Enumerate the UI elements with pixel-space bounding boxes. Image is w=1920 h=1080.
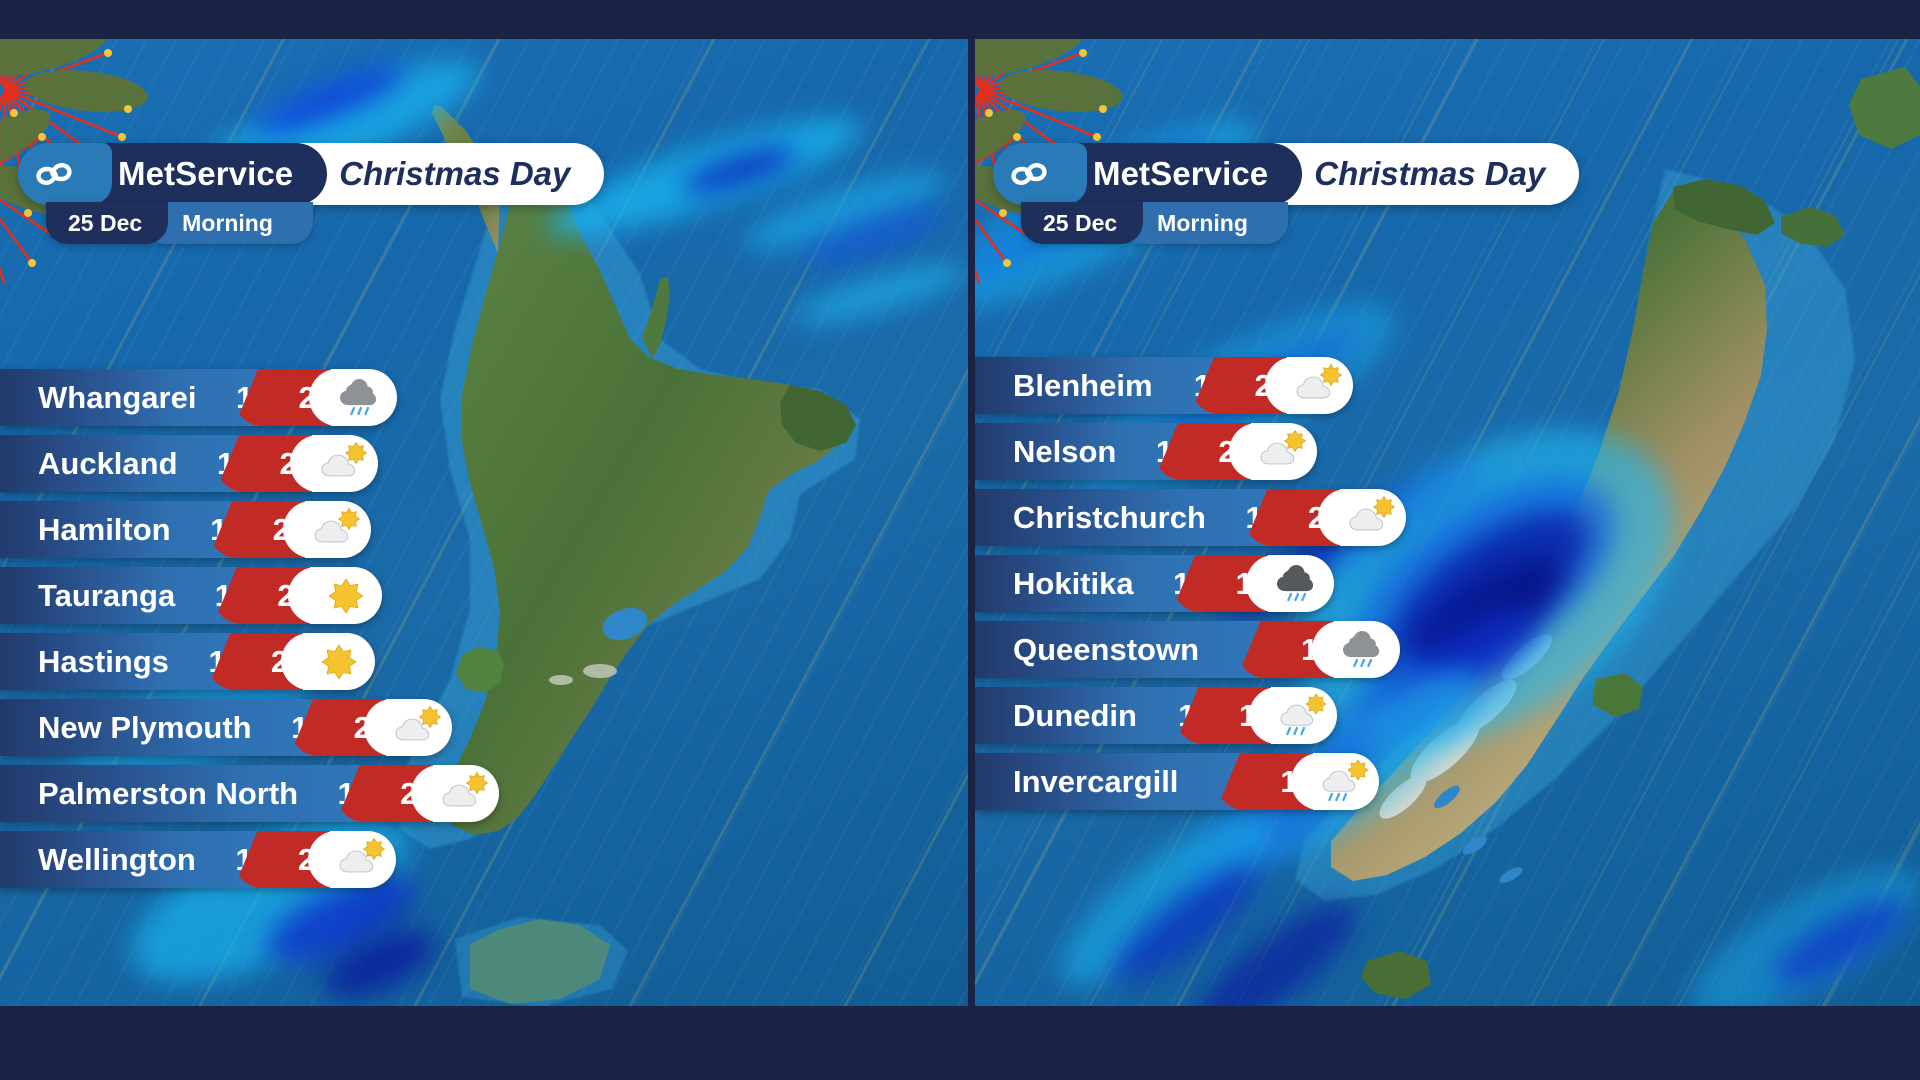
city-forecast-row[interactable]: New Plymouth1321: [0, 699, 499, 756]
forecast-graphic: MetService Christmas Day 25 Dec Morning …: [0, 0, 1920, 1080]
rain-cloud-dark-icon: [1275, 561, 1327, 607]
weather-icon-cap: [331, 369, 397, 426]
brand-name: MetService: [1059, 143, 1302, 205]
city-name: Blenheim: [1013, 368, 1153, 404]
sun-behind-cloud-icon: [1294, 363, 1346, 409]
letterbox-bottom: [0, 1006, 1920, 1080]
sun-behind-cloud-icon: [337, 837, 389, 883]
city-forecast-row[interactable]: Hastings1229: [0, 633, 499, 690]
date-time-pills: 25 Dec Morning: [1021, 202, 1579, 244]
city-forecast-row[interactable]: Hokitika1217: [975, 555, 1406, 612]
page-title: Christmas Day: [297, 143, 604, 205]
page-title: Christmas Day: [1272, 143, 1579, 205]
brand-name: MetService: [84, 143, 327, 205]
city-forecast-row[interactable]: Nelson1222: [975, 423, 1406, 480]
panel-header-south: MetService Christmas Day 25 Dec Morning: [993, 143, 1579, 244]
weather-icon-cap: [1287, 357, 1353, 414]
city-name: Invercargill: [1013, 764, 1178, 800]
weather-icon-cap: [1340, 489, 1406, 546]
city-forecast-row[interactable]: Tauranga1425: [0, 567, 499, 624]
sun-behind-cloud-icon: [1258, 429, 1310, 475]
city-name: Palmerston North: [38, 776, 298, 812]
weather-icon-cap: [386, 699, 452, 756]
weather-icon-cap: [312, 435, 378, 492]
city-forecast-row[interactable]: Queenstown716: [975, 621, 1406, 678]
panel-header-north: MetService Christmas Day 25 Dec Morning: [18, 143, 604, 244]
city-forecast-row[interactable]: Wellington1420: [0, 831, 499, 888]
city-forecast-row[interactable]: Blenheim1125: [975, 357, 1406, 414]
sun-behind-cloud-icon: [312, 507, 364, 553]
city-forecast-row[interactable]: Christchurch1025: [975, 489, 1406, 546]
city-name: New Plymouth: [38, 710, 252, 746]
city-forecast-row[interactable]: Whangarei1626: [0, 369, 499, 426]
city-name: Nelson: [1013, 434, 1116, 470]
city-row-bar: Palmerston North15: [0, 765, 390, 822]
city-name: Hastings: [38, 644, 169, 680]
sun-cloud-rain-icon: [1320, 759, 1372, 805]
city-name: Hamilton: [38, 512, 171, 548]
city-name: Dunedin: [1013, 698, 1137, 734]
city-forecast-row[interactable]: Invercargill817: [975, 753, 1406, 810]
weather-icon-cap: [1271, 687, 1337, 744]
city-forecast-list-north: Whangarei1626Auckland1624Hamilton1023Tau…: [0, 369, 499, 897]
city-row-bar: Christchurch10: [975, 489, 1298, 546]
brand-header-bar: MetService Christmas Day: [993, 143, 1579, 205]
panel-divider: [968, 39, 975, 1006]
sun-behind-cloud-icon: [393, 705, 445, 751]
weather-icon-cap: [1313, 753, 1379, 810]
date-pill: 25 Dec: [1021, 202, 1143, 244]
weather-icon-cap: [1334, 621, 1400, 678]
city-name: Christchurch: [1013, 500, 1206, 536]
metservice-koru-spiral-icon: [32, 154, 76, 194]
city-name: Auckland: [38, 446, 178, 482]
weather-icon-cap: [303, 633, 375, 690]
time-of-day-pill: Morning: [144, 202, 313, 244]
sun-cloud-rain-icon: [1278, 693, 1330, 739]
sun-icon: [313, 639, 365, 685]
date-pill: 25 Dec: [46, 202, 168, 244]
weather-icon-cap: [1251, 423, 1317, 480]
city-name: Queenstown: [1013, 632, 1199, 668]
letterbox-top: [0, 0, 1920, 39]
city-forecast-row[interactable]: Hamilton1023: [0, 501, 499, 558]
weather-icon-cap: [305, 501, 371, 558]
time-of-day-pill: Morning: [1119, 202, 1288, 244]
city-forecast-row[interactable]: Dunedin1119: [975, 687, 1406, 744]
metservice-logo-badge: [993, 143, 1065, 205]
city-name: Whangarei: [38, 380, 196, 416]
city-name: Hokitika: [1013, 566, 1134, 602]
panel-north-island: MetService Christmas Day 25 Dec Morning …: [0, 39, 968, 1006]
city-name: Wellington: [38, 842, 196, 878]
city-forecast-list-south: Blenheim1125Nelson1222Christchurch1025Ho…: [975, 357, 1406, 819]
city-row-bar: Queenstown7: [975, 621, 1291, 678]
metservice-koru-spiral-icon: [1007, 154, 1051, 194]
city-row-bar: New Plymouth13: [0, 699, 344, 756]
date-time-pills: 25 Dec Morning: [46, 202, 604, 244]
rain-cloud-grey-icon: [338, 375, 390, 421]
city-forecast-row[interactable]: Palmerston North1521: [0, 765, 499, 822]
panel-south-island: MetService Christmas Day 25 Dec Morning …: [975, 39, 1920, 1006]
rain-cloud-grey-icon: [1341, 627, 1393, 673]
weather-icon-cap: [310, 567, 382, 624]
weather-icon-cap: [433, 765, 499, 822]
brand-header-bar: MetService Christmas Day: [18, 143, 604, 205]
sun-behind-cloud-icon: [440, 771, 492, 817]
metservice-logo-badge: [18, 143, 90, 205]
city-forecast-row[interactable]: Auckland1624: [0, 435, 499, 492]
city-name: Tauranga: [38, 578, 175, 614]
sun-behind-cloud-icon: [319, 441, 371, 487]
sun-icon: [320, 573, 372, 619]
weather-icon-cap: [330, 831, 396, 888]
weather-icon-cap: [1268, 555, 1334, 612]
sun-behind-cloud-icon: [1347, 495, 1399, 541]
